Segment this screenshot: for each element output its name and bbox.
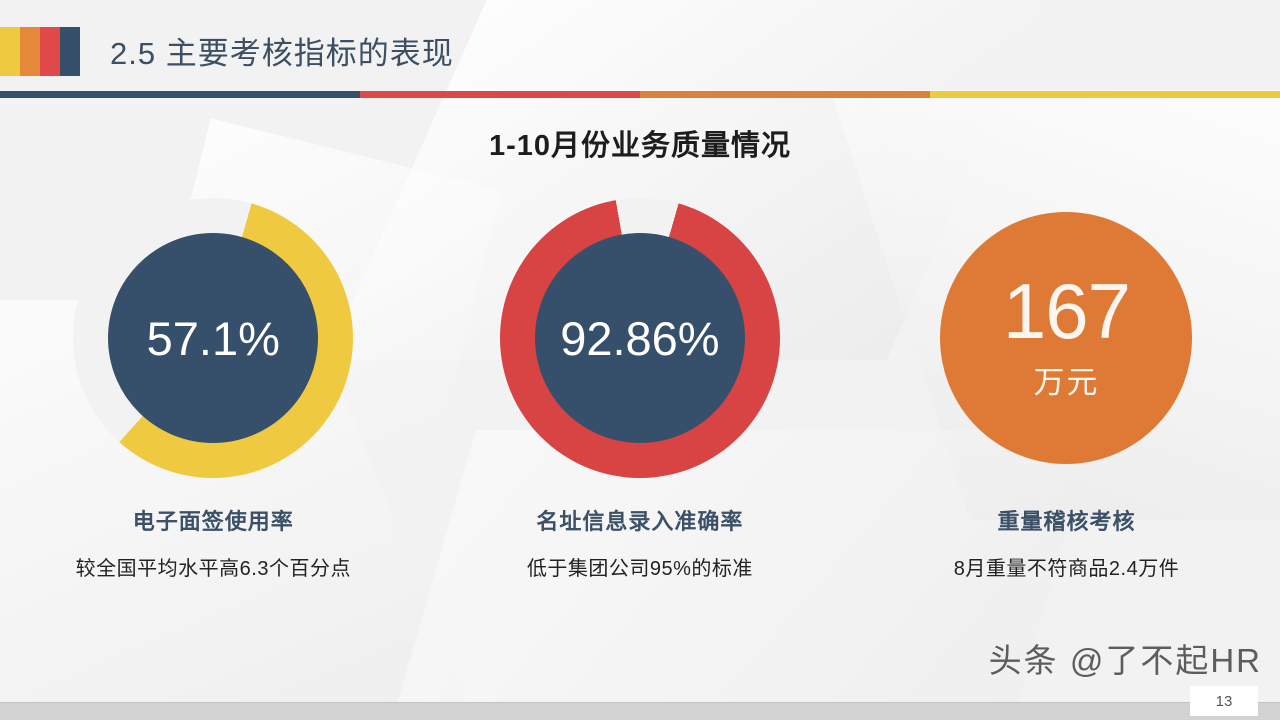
caption-note-address-entry-accuracy: 低于集团公司95%的标准 bbox=[527, 552, 753, 581]
solid-circle-weight-audit: 167万元 bbox=[940, 212, 1192, 464]
caption-e-signature-usage: 电子面签使用率较全国平均水平高6.3个百分点 bbox=[76, 504, 351, 581]
caption-note-weight-audit: 8月重量不符商品2.4万件 bbox=[954, 552, 1179, 581]
rule-segment-yellow bbox=[930, 91, 1280, 98]
caption-title-weight-audit: 重量稽核考核 bbox=[954, 504, 1179, 536]
slide-header: 2.5 主要考核指标的表现 bbox=[0, 0, 1280, 96]
header-swatch-3 bbox=[40, 27, 60, 76]
metric-address-entry-accuracy: 92.86%名址信息录入准确率低于集团公司95%的标准 bbox=[427, 198, 854, 581]
metric-value-address-entry-accuracy: 92.86% bbox=[560, 315, 719, 362]
rule-segment-red bbox=[360, 91, 640, 98]
header-color-swatches bbox=[0, 27, 80, 76]
page-number-badge: 13 bbox=[1190, 686, 1258, 716]
metrics-row: 57.1%电子面签使用率较全国平均水平高6.3个百分点92.86%名址信息录入准… bbox=[0, 198, 1280, 581]
watermark-text: 头条 @了不起HR bbox=[989, 634, 1262, 682]
header-divider-rule bbox=[0, 91, 1280, 98]
header-swatch-2 bbox=[20, 27, 40, 76]
metric-unit-weight-audit: 万元 bbox=[1033, 357, 1099, 402]
metric-value-weight-audit: 167 bbox=[1003, 274, 1130, 348]
chart-title: 1-10月份业务质量情况 bbox=[0, 122, 1280, 164]
dial-weight-audit: 167万元 bbox=[926, 198, 1206, 478]
metric-weight-audit: 167万元重量稽核考核8月重量不符商品2.4万件 bbox=[853, 198, 1280, 581]
caption-note-e-signature-usage: 较全国平均水平高6.3个百分点 bbox=[76, 552, 351, 581]
caption-title-address-entry-accuracy: 名址信息录入准确率 bbox=[527, 504, 753, 536]
metric-e-signature-usage: 57.1%电子面签使用率较全国平均水平高6.3个百分点 bbox=[0, 198, 427, 581]
dial-address-entry-accuracy: 92.86% bbox=[500, 198, 780, 478]
caption-title-e-signature-usage: 电子面签使用率 bbox=[76, 504, 351, 536]
metric-value-e-signature-usage: 57.1% bbox=[147, 315, 280, 362]
slide: 2.5 主要考核指标的表现 1-10月份业务质量情况 57.1%电子面签使用率较… bbox=[0, 0, 1280, 720]
header-swatch-1 bbox=[0, 27, 20, 76]
caption-weight-audit: 重量稽核考核8月重量不符商品2.4万件 bbox=[954, 504, 1179, 581]
footer-strip bbox=[0, 702, 1280, 720]
page-title: 2.5 主要考核指标的表现 bbox=[110, 28, 454, 73]
rule-segment-orange bbox=[640, 91, 930, 98]
donut-hub-e-signature-usage: 57.1% bbox=[108, 233, 318, 443]
donut-hub-address-entry-accuracy: 92.86% bbox=[535, 233, 745, 443]
rule-segment-navy bbox=[0, 91, 360, 98]
dial-e-signature-usage: 57.1% bbox=[73, 198, 353, 478]
caption-address-entry-accuracy: 名址信息录入准确率低于集团公司95%的标准 bbox=[527, 504, 753, 581]
header-swatch-4 bbox=[60, 27, 80, 76]
